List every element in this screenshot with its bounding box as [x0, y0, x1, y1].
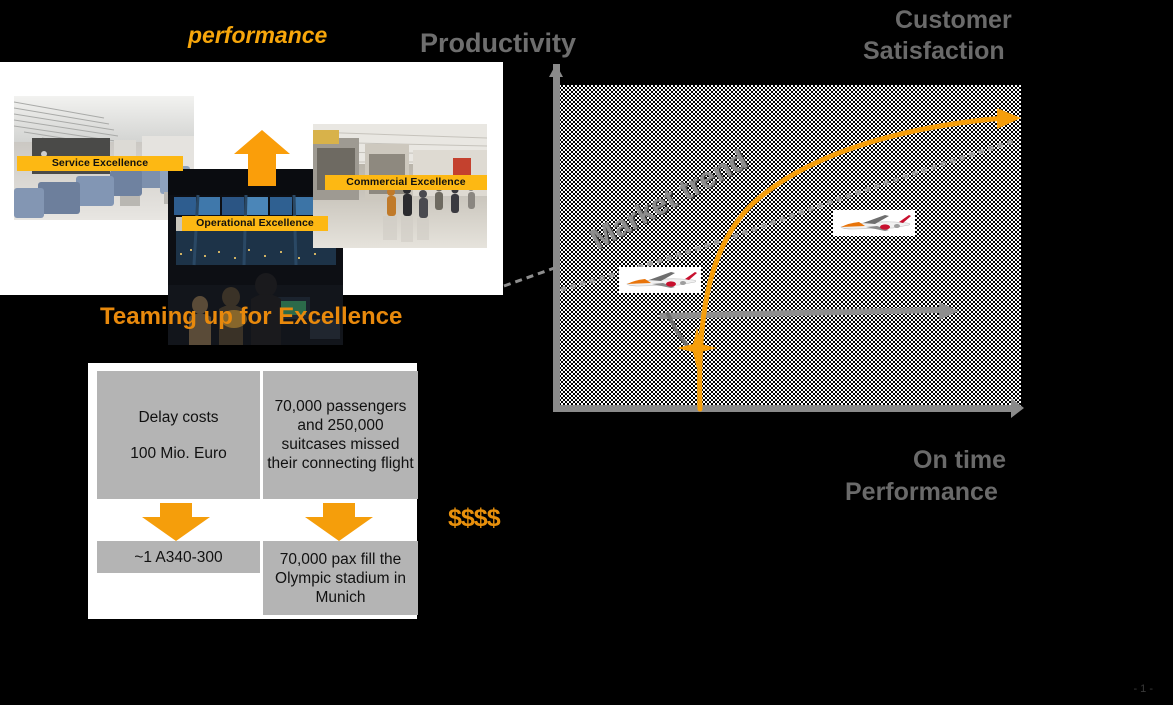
cost-indicator: $$$$	[448, 504, 500, 533]
on-time-line2: Performance	[845, 476, 1145, 508]
delay-costs-line2: 100 Mio. Euro	[130, 445, 227, 462]
teaming-up-heading: Teaming up for Excellence	[100, 303, 402, 331]
performance-heading: performance	[188, 22, 327, 49]
starting-point-burst-icon	[677, 327, 717, 369]
customer-satisfaction-axis-title: Customer Satisfaction	[863, 5, 1163, 68]
performance-chart: Market trend	[549, 64, 1031, 421]
customer-satisfaction-line2: Satisfaction	[863, 36, 1163, 67]
productivity-heading: Productivity	[420, 28, 576, 59]
table-cell-aircraft-equivalent: ~1 A340-300	[97, 541, 260, 573]
up-arrow-icon	[233, 128, 291, 186]
label-service-excellence: Service Excellence	[17, 156, 183, 171]
customer-satisfaction-line1: Customer	[863, 5, 1163, 36]
excellence-collage-panel: Service Excellence Operational Excellenc…	[0, 62, 503, 295]
table-cell-missed-connections: 70,000 passengers and 250,000 suitcases …	[263, 371, 418, 499]
down-arrow-right-icon	[303, 503, 375, 541]
table-cell-stadium-equivalent: 70,000 pax fill the Olympic stadium in M…	[263, 541, 418, 615]
page-number: - 1 -	[1133, 683, 1153, 695]
aircraft-target-marker	[833, 210, 915, 236]
slide-canvas: performance Productivity Customer Satisf…	[0, 0, 1173, 705]
market-trend-curve	[549, 64, 1031, 421]
down-arrow-left-icon	[140, 503, 212, 541]
on-time-line1: On time	[845, 444, 1145, 476]
impact-table: Delay costs 100 Mio. Euro 70,000 passeng…	[88, 363, 417, 619]
delay-costs-line1: Delay costs	[138, 409, 218, 426]
table-cell-delay-costs: Delay costs 100 Mio. Euro	[97, 371, 260, 499]
aircraft-current-marker	[619, 267, 701, 293]
on-time-performance-axis-title: On time Performance	[845, 444, 1145, 508]
label-commercial-excellence: Commercial Excellence	[325, 175, 487, 190]
label-operational-excellence: Operational Excellence	[182, 216, 328, 231]
